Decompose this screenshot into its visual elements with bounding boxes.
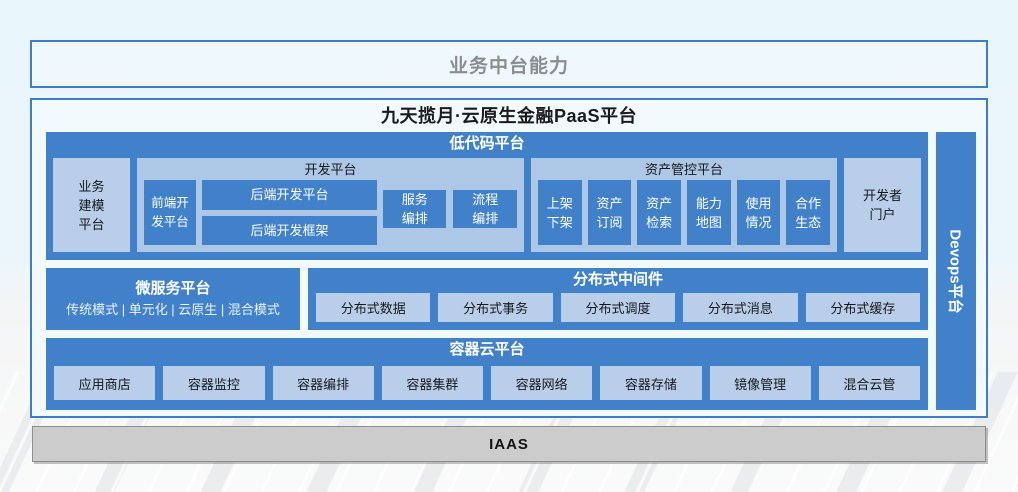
distributed-middleware-block: 分布式中间件 分布式数据 分布式事务 分布式调度 分布式消息 分布式缓存: [308, 268, 928, 330]
dev-platform-body: 前端开 发平台 后端开发平台 后端开发框架 服务 编排 流程 编排: [137, 180, 524, 252]
asset-management-title: 资产管控平台: [531, 158, 837, 180]
backend-stack: 后端开发平台 后端开发框架: [202, 180, 377, 245]
asset-management-body: 上架 下架 资产 订阅 资产 检索 能力 地图 使用 情况 合作 生态: [531, 180, 837, 252]
asset-tile-usage[interactable]: 使用 情况: [737, 180, 781, 245]
architecture-diagram: 业务中台能力 九天揽月·云原生金融PaaS平台 低代码平台 业务 建模 平台 开…: [0, 0, 1018, 492]
container-cloud-band: 容器云平台 应用商店 容器监控 容器编排 容器集群 容器网络 容器存储 镜像管理…: [46, 338, 928, 410]
paas-platform-title: 九天揽月·云原生金融PaaS平台: [32, 102, 986, 128]
paas-platform-frame: 九天揽月·云原生金融PaaS平台 低代码平台 业务 建模 平台 开发平台 前端开…: [30, 98, 988, 418]
container-chip-image-management[interactable]: 镜像管理: [710, 366, 811, 400]
lowcode-platform-title: 低代码平台: [46, 132, 928, 154]
microservice-platform-title: 微服务平台: [135, 278, 210, 300]
container-chip-storage[interactable]: 容器存储: [600, 366, 701, 400]
middleware-chip-cache[interactable]: 分布式缓存: [806, 293, 920, 322]
capability-banner-title: 业务中台能力: [449, 51, 569, 78]
iaas-bar: IAAS: [32, 426, 986, 462]
iaas-label: IAAS: [489, 436, 529, 453]
distributed-middleware-title: 分布式中间件: [308, 268, 928, 290]
middleware-chip-scheduling[interactable]: 分布式调度: [561, 293, 675, 322]
microservice-platform-block: 微服务平台 传统模式 | 单元化 | 云原生 | 混合模式: [46, 268, 300, 330]
dev-platform-title: 开发平台: [137, 158, 524, 180]
service-orchestration-tile[interactable]: 服务 编排: [383, 190, 447, 228]
business-modeling-platform-tile[interactable]: 业务 建模 平台: [53, 158, 130, 252]
developer-portal-tile[interactable]: 开发者 门户: [844, 158, 921, 252]
orchestration-group: 服务 编排 流程 编排: [383, 180, 517, 245]
frontend-dev-platform-tile[interactable]: 前端开 发平台: [144, 180, 196, 245]
container-chip-app-store[interactable]: 应用商店: [54, 366, 155, 400]
backend-dev-framework-tile[interactable]: 后端开发框架: [202, 216, 377, 246]
container-chip-cluster[interactable]: 容器集群: [382, 366, 483, 400]
asset-tile-ecosystem[interactable]: 合作 生态: [786, 180, 830, 245]
lowcode-platform-band: 低代码平台 业务 建模 平台 开发平台 前端开 发平台 后端开发平台 后端开发框…: [46, 132, 928, 260]
middleware-chip-message[interactable]: 分布式消息: [683, 293, 797, 322]
asset-management-group: 资产管控平台 上架 下架 资产 订阅 资产 检索 能力 地图 使用 情况 合作 …: [531, 158, 837, 252]
container-chip-network[interactable]: 容器网络: [491, 366, 592, 400]
asset-tile-capability-map[interactable]: 能力 地图: [687, 180, 731, 245]
asset-tile-subscription[interactable]: 资产 订阅: [588, 180, 632, 245]
dev-platform-group: 开发平台 前端开 发平台 后端开发平台 后端开发框架 服务 编排 流程 编排: [137, 158, 524, 252]
middle-row: 微服务平台 传统模式 | 单元化 | 云原生 | 混合模式 分布式中间件 分布式…: [46, 268, 928, 330]
container-chip-hybrid-cloud[interactable]: 混合云管: [819, 366, 920, 400]
asset-tile-listing[interactable]: 上架 下架: [538, 180, 582, 245]
microservice-platform-modes: 传统模式 | 单元化 | 云原生 | 混合模式: [66, 300, 280, 320]
container-cloud-title: 容器云平台: [46, 338, 928, 360]
container-chip-monitoring[interactable]: 容器监控: [163, 366, 264, 400]
middleware-chip-data[interactable]: 分布式数据: [316, 293, 430, 322]
middleware-chip-transaction[interactable]: 分布式事务: [438, 293, 552, 322]
container-chip-orchestration[interactable]: 容器编排: [273, 366, 374, 400]
container-cloud-chip-row: 应用商店 容器监控 容器编排 容器集群 容器网络 容器存储 镜像管理 混合云管: [54, 366, 920, 400]
backend-dev-platform-tile[interactable]: 后端开发平台: [202, 180, 377, 210]
devops-platform-bar[interactable]: Devops平台: [936, 132, 976, 410]
capability-banner: 业务中台能力: [30, 40, 988, 88]
asset-tile-search[interactable]: 资产 检索: [637, 180, 681, 245]
platform-stack: 低代码平台 业务 建模 平台 开发平台 前端开 发平台 后端开发平台 后端开发框…: [46, 132, 928, 410]
middleware-chip-row: 分布式数据 分布式事务 分布式调度 分布式消息 分布式缓存: [316, 293, 920, 322]
devops-platform-label: Devops平台: [946, 229, 967, 313]
process-orchestration-tile[interactable]: 流程 编排: [453, 190, 517, 228]
lowcode-content-row: 业务 建模 平台 开发平台 前端开 发平台 后端开发平台 后端开发框架 服务 编…: [53, 158, 921, 252]
